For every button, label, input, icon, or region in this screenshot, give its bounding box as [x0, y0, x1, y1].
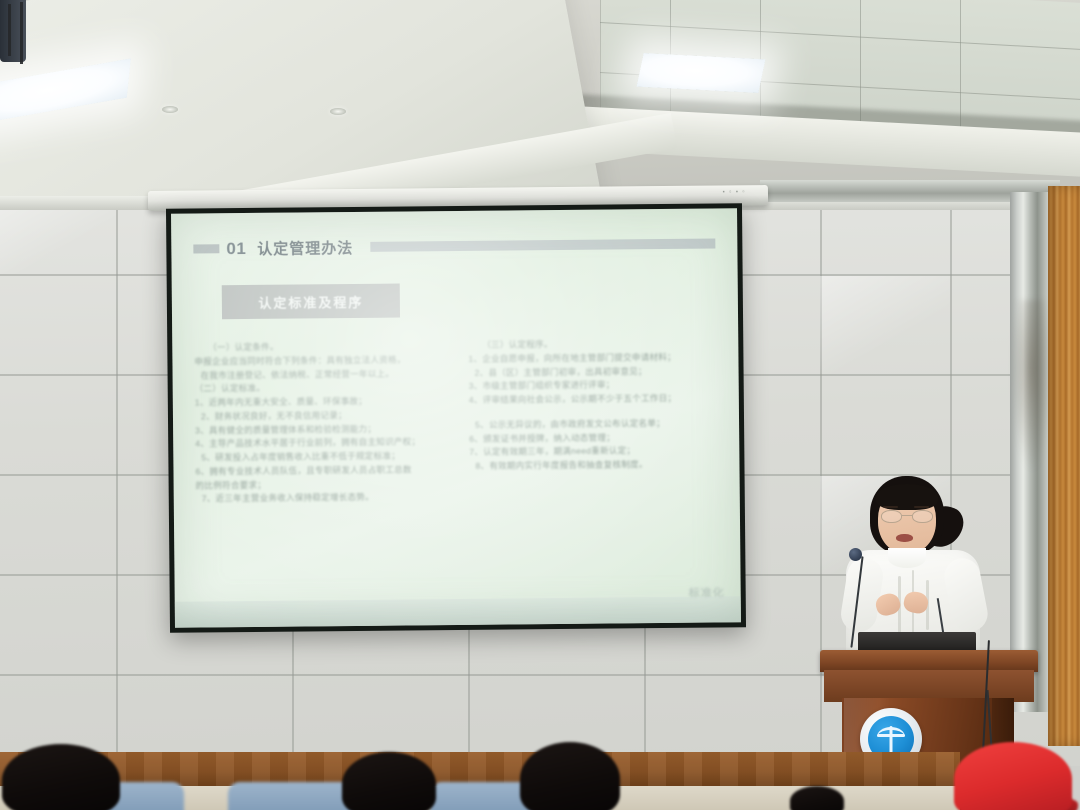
slide-text-line: 8、有效期内实行年度报告和抽查复核制度。	[469, 458, 717, 474]
audience-head	[2, 744, 120, 810]
podium-top-surface	[820, 650, 1038, 672]
wood-slat-wall	[1048, 186, 1080, 746]
title-accent-bar	[370, 239, 715, 252]
slide-subtitle-box: 认定标准及程序	[222, 284, 400, 320]
red-cap	[954, 742, 1072, 810]
ceiling	[0, 0, 1080, 200]
slide-text-line: 7、近三年主营业务收入保持稳定增长态势。	[196, 491, 444, 507]
ceiling-light-panel-right	[637, 53, 766, 93]
screen-bottom-band	[175, 596, 741, 627]
downlight-icon	[162, 106, 178, 113]
slide-section-number: 01	[226, 240, 246, 257]
slide-body-columns: （一）认定条件。申报企业应当同时符合下列条件：具有独立法人资格，在我市注册登记、…	[194, 336, 718, 506]
audience-head	[790, 786, 844, 810]
conference-hall-photo: ▪ ▫ ▪ ▫ 01 认定管理办法 认定标准及程序 （一）认定条件。申报企业应当…	[0, 0, 1080, 810]
presenter-collar	[888, 548, 926, 568]
slide-text-line: 4、评审结果向社会公示，公示期不少于五个工作日；	[469, 392, 717, 408]
audience-head	[520, 742, 620, 810]
presenter-eyebrow	[914, 506, 929, 508]
slide-left-column: （一）认定条件。申报企业应当同时符合下列条件：具有独立法人资格，在我市注册登记、…	[194, 339, 444, 507]
slide-right-column: （三）认定程序。1、企业自愿申报，向所在地主管部门提交申请材料；2、县（区）主管…	[468, 336, 718, 504]
slide-subtitle-text: 认定标准及程序	[258, 291, 363, 311]
projection-screen-surface: 01 认定管理办法 认定标准及程序 （一）认定条件。申报企业应当同时符合下列条件…	[171, 208, 741, 627]
audience-head	[342, 752, 436, 810]
microphone-icon	[849, 548, 862, 561]
presenter-eyebrow	[883, 506, 898, 508]
projection-screen: 01 认定管理办法 认定标准及程序 （一）认定条件。申报企业应当同时符合下列条件…	[166, 203, 746, 633]
slide-content: 01 认定管理办法 认定标准及程序 （一）认定条件。申报企业应当同时符合下列条件…	[171, 208, 741, 627]
downlight-icon	[330, 108, 346, 115]
glasses-icon	[880, 510, 934, 523]
presenter-mouth	[896, 534, 913, 542]
slide-section-title: 认定管理办法	[257, 236, 353, 258]
steel-column-reflection	[1012, 300, 1052, 470]
housing-brand-label: ▪ ▫ ▪ ▫	[723, 189, 746, 195]
slide-title-row: 01 认定管理办法	[193, 233, 715, 260]
audience-row	[0, 720, 1080, 810]
title-dash-icon	[193, 244, 219, 253]
